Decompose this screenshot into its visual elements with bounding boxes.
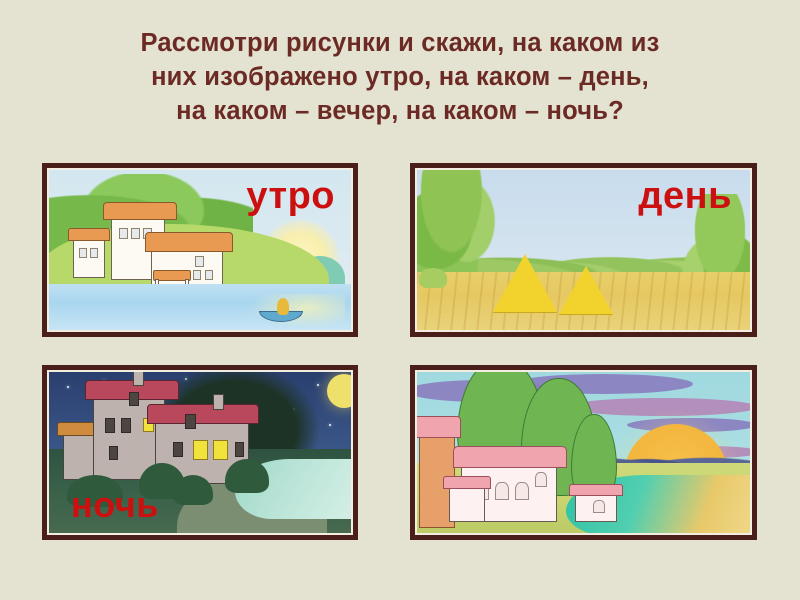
heading-line-1: Рассмотри рисунки и скажи, на каком из — [22, 26, 778, 60]
evening-window — [535, 472, 547, 487]
scene-morning: утро — [49, 170, 351, 330]
panel-inner-border-day: день — [415, 168, 752, 332]
chimney-icon — [133, 372, 144, 386]
morning-window — [90, 248, 98, 258]
morning-roof-tall — [103, 202, 177, 220]
evening-house-annex — [449, 484, 485, 522]
evening-house-main-roof — [453, 446, 567, 468]
chimney-icon — [213, 394, 224, 410]
evening-house-annex-roof — [443, 476, 491, 489]
caption-morning: утро — [246, 174, 335, 218]
morning-window — [131, 228, 140, 239]
morning-window — [195, 256, 204, 267]
caption-day: день — [638, 174, 732, 218]
evening-tower-roof — [417, 416, 461, 438]
picture-panel-day[interactable]: день — [410, 163, 757, 337]
picture-panel-night[interactable]: ночь — [42, 365, 358, 540]
page-title: Рассмотри рисунки и скажи, на каком из н… — [0, 26, 800, 128]
boat-person — [277, 298, 289, 315]
star-icon — [329, 424, 331, 426]
night-shrub — [173, 475, 213, 505]
evening-window — [515, 482, 529, 500]
picture-panel-morning[interactable]: утро — [42, 163, 358, 337]
panel-inner-border-night: ночь — [47, 370, 353, 535]
morning-window — [79, 248, 87, 258]
night-window-dark — [105, 418, 115, 433]
caption-night: ночь — [71, 483, 159, 527]
evening-shed-roof — [569, 484, 623, 496]
heading-line-3: на каком – вечер, на каком – ночь? — [22, 94, 778, 128]
morning-roof-small — [68, 228, 110, 241]
day-shrub — [419, 268, 447, 288]
panel-inner-border-morning: утро — [47, 168, 353, 332]
haystack-icon — [559, 266, 613, 314]
night-window-dark — [109, 446, 118, 460]
panel-inner-border-evening: вечер — [415, 370, 752, 535]
night-window-dark — [185, 414, 196, 429]
night-window-dark — [173, 442, 183, 457]
scene-day: день — [417, 170, 750, 330]
evening-window — [495, 482, 509, 500]
night-window-dark — [121, 418, 131, 433]
picture-panel-evening[interactable]: вечер — [410, 365, 757, 540]
morning-window — [119, 228, 128, 239]
morning-roof-front — [145, 232, 233, 252]
scene-night: ночь — [49, 372, 351, 533]
night-window-lit — [193, 440, 208, 460]
night-house-front-roof — [147, 404, 259, 424]
morning-window — [193, 270, 201, 280]
morning-window — [205, 270, 213, 280]
heading-line-2: них изображено утро, на каком – день, — [22, 60, 778, 94]
night-window-dark — [129, 392, 139, 406]
star-icon — [67, 386, 69, 388]
haystack-icon — [493, 254, 557, 312]
night-window-lit — [213, 440, 228, 460]
scene-evening: вечер — [417, 372, 750, 533]
slide: Рассмотри рисунки и скажи, на каком из н… — [0, 0, 800, 600]
night-window-dark — [235, 442, 244, 457]
evening-window — [593, 500, 605, 513]
morning-house-small — [73, 236, 105, 278]
